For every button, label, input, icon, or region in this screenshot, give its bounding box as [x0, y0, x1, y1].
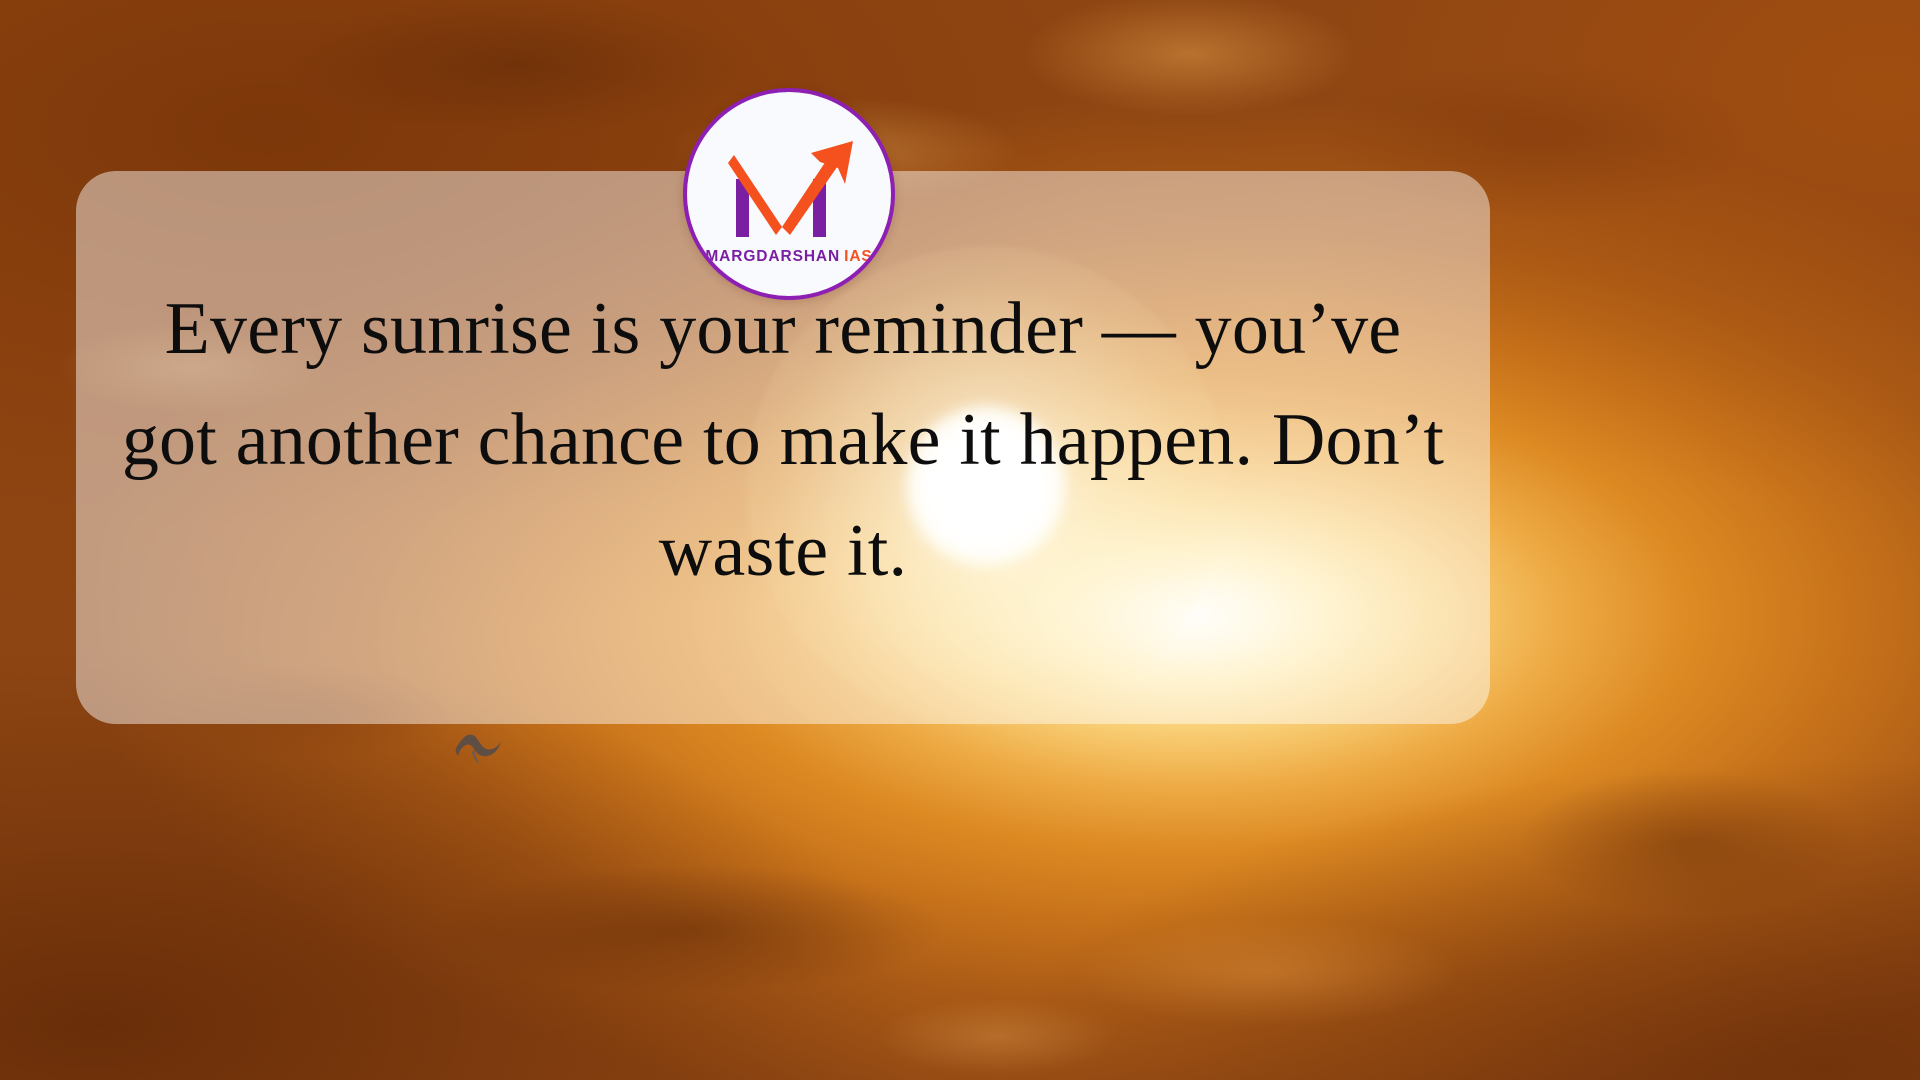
logo-wordmark-secondary: IAS	[844, 248, 873, 265]
m-growth-arrow-icon	[714, 135, 864, 247]
logo-wordmark-primary: MARGDARSHAN	[705, 248, 840, 265]
logo-wordmark: MARGDARSHANIAS	[705, 248, 872, 266]
quote-paragraph: Every sunrise is your reminder — you’ve …	[110, 274, 1456, 607]
flying-bird-silhouette-icon	[452, 718, 504, 770]
brand-logo-badge: MARGDARSHANIAS	[683, 88, 895, 300]
quote-poster: Every sunrise is your reminder — you’ve …	[0, 0, 1920, 1080]
